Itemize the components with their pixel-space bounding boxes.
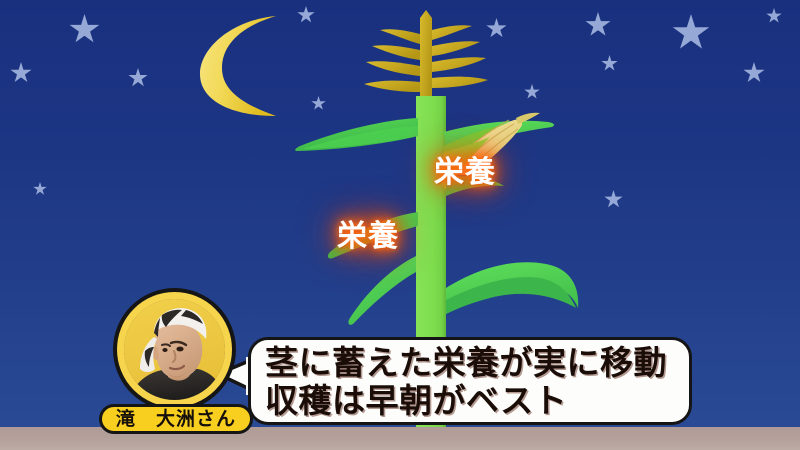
leaf-lower-left <box>348 256 416 325</box>
speaker-photo <box>124 299 225 400</box>
infographic-stage: 栄養 栄養 茎に蓄えた栄養が実に移動 収穫は早朝がベスト <box>0 0 800 450</box>
speech-bubble-line-1: 茎に蓄えた栄養が実に移動 <box>265 344 679 382</box>
nutrient-label-lower: 栄養 <box>337 222 399 252</box>
speaker-name-label: 滝 大洲さん <box>116 410 236 429</box>
speech-bubble: 茎に蓄えた栄養が実に移動 収穫は早朝がベスト <box>248 337 692 425</box>
speech-bubble-line-2: 収穫は早朝がベスト <box>265 382 679 420</box>
speaker-portrait-avatar <box>113 288 236 411</box>
corn-tassel <box>364 10 488 100</box>
speaker-name-tag: 滝 大洲さん <box>99 404 253 434</box>
nutrient-label-upper: 栄養 <box>434 158 496 188</box>
